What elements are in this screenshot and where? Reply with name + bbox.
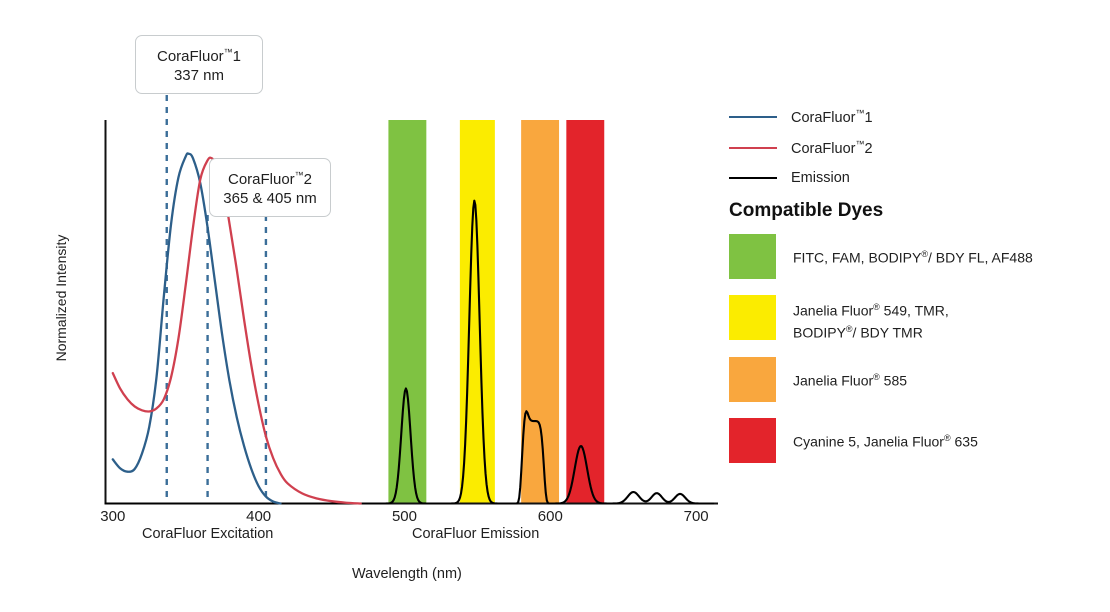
dye-row-2[interactable]: Janelia Fluor® 549, TMR,BODIPY®/ BDY TMR: [729, 295, 1101, 341]
x-tick-400: 400: [237, 508, 281, 525]
legend-line-swatch: [729, 177, 777, 179]
x-tick-500: 500: [382, 508, 426, 525]
callout1-name: CoraFluor: [157, 48, 224, 65]
emission-region-label: CoraFluor Emission: [412, 526, 539, 542]
registered-icon: ®: [944, 433, 951, 443]
y-axis-title: Normalized Intensity: [53, 213, 69, 383]
legend-item-2[interactable]: CoraFluor™2: [729, 139, 1099, 157]
orange-band: [521, 120, 559, 504]
legend-item-1[interactable]: CoraFluor™1: [729, 108, 1099, 126]
legend-label: Emission: [791, 170, 850, 186]
callout1-suffix: 1: [233, 48, 241, 65]
green-band: [388, 120, 426, 504]
dye-row-4[interactable]: Cyanine 5, Janelia Fluor® 635: [729, 418, 1101, 463]
trademark-icon: ™: [224, 47, 233, 57]
registered-icon: ®: [921, 249, 928, 259]
red-band: [566, 120, 604, 504]
dye-label: Janelia Fluor® 585: [793, 357, 907, 390]
dye-color-swatch: [729, 418, 776, 463]
dye-label: Cyanine 5, Janelia Fluor® 635: [793, 418, 978, 451]
callout1-value: 337 nm: [146, 66, 252, 85]
compatible-dyes-title: Compatible Dyes: [729, 200, 883, 222]
x-tick-300: 300: [91, 508, 135, 525]
legend-line-swatch: [729, 147, 777, 149]
legend-label: CoraFluor™1: [791, 108, 873, 126]
dye-color-swatch: [729, 234, 776, 279]
legend-item-3[interactable]: Emission: [729, 170, 1099, 186]
emission-bands: [388, 120, 604, 504]
compatible-dyes-list: FITC, FAM, BODIPY®/ BDY FL, AF488Janelia…: [729, 234, 1101, 479]
callout-corafluor-1: CoraFluor™1 337 nm: [135, 35, 263, 94]
dye-color-swatch: [729, 295, 776, 340]
x-tick-600: 600: [528, 508, 572, 525]
registered-icon: ®: [873, 302, 880, 312]
x-tick-700: 700: [674, 508, 718, 525]
excitation-region-label: CoraFluor Excitation: [142, 526, 273, 542]
legend-label: CoraFluor™2: [791, 139, 873, 157]
legend-line-swatch: [729, 116, 777, 118]
dye-row-3[interactable]: Janelia Fluor® 585: [729, 357, 1101, 402]
trademark-icon: ™: [295, 170, 304, 180]
dye-label: FITC, FAM, BODIPY®/ BDY FL, AF488: [793, 234, 1033, 267]
registered-icon: ®: [873, 372, 880, 382]
callout2-suffix: 2: [304, 171, 312, 188]
x-axis-title: Wavelength (nm): [352, 566, 462, 582]
registered-icon: ®: [846, 324, 853, 334]
dye-row-1[interactable]: FITC, FAM, BODIPY®/ BDY FL, AF488: [729, 234, 1101, 279]
callout2-value: 365 & 405 nm: [220, 189, 320, 208]
callout2-name: CoraFluor: [228, 171, 295, 188]
dye-label: Janelia Fluor® 549, TMR,BODIPY®/ BDY TMR: [793, 295, 949, 341]
callout-corafluor-2: CoraFluor™2 365 & 405 nm: [209, 158, 331, 217]
dye-color-swatch: [729, 357, 776, 402]
series-legend: CoraFluor™1CoraFluor™2Emission: [729, 108, 1099, 199]
